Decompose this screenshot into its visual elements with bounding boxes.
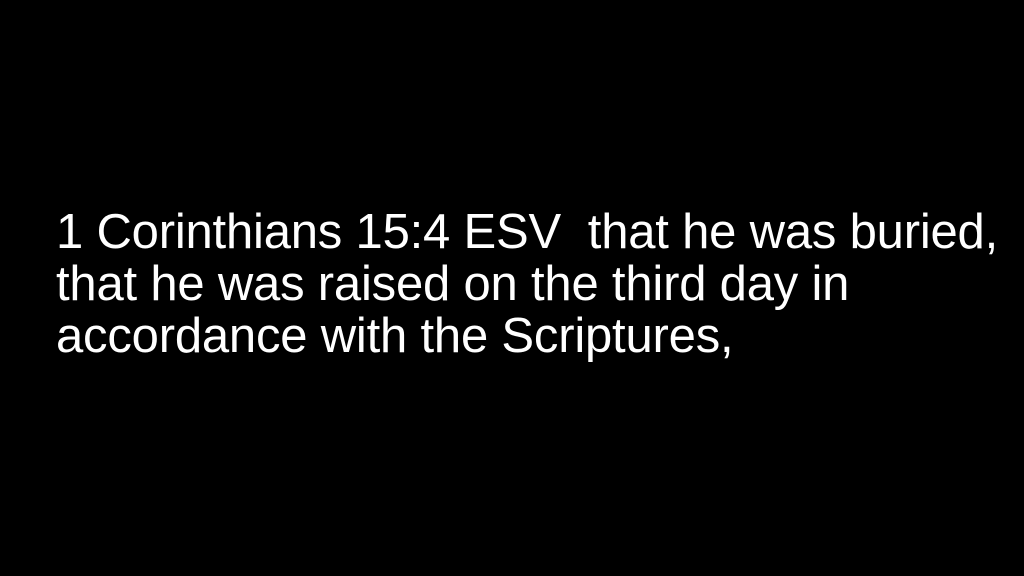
scripture-slide: 1 Corinthians 15:4 ESV that he was burie…: [0, 0, 1024, 576]
verse-line-3: accordance with the Scriptures,: [56, 310, 972, 362]
verse-line-2: that he was raised on the third day in: [56, 258, 972, 310]
verse-text-block: 1 Corinthians 15:4 ESV that he was burie…: [56, 206, 972, 362]
verse-line-1: 1 Corinthians 15:4 ESV that he was burie…: [56, 206, 972, 258]
